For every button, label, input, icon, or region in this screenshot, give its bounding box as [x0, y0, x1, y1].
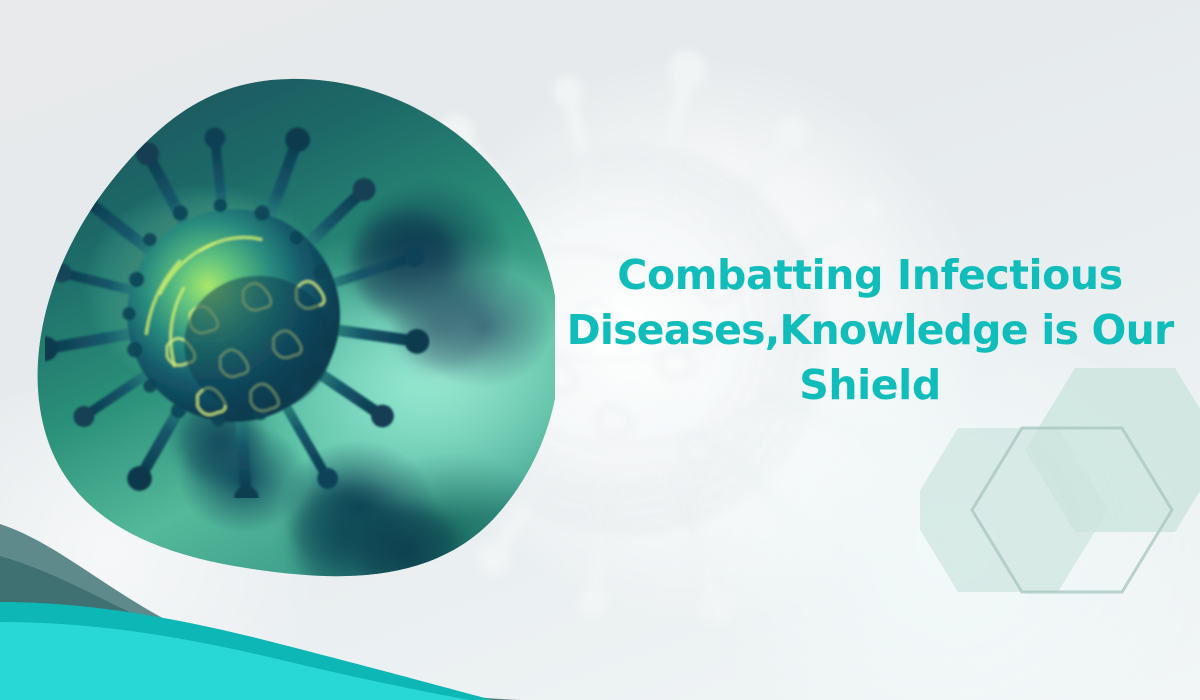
hero-image-blob	[35, 78, 555, 578]
headline-line-2: Diseases,Knowledge is Our	[560, 303, 1180, 358]
headline-line-1: Combatting Infectious	[560, 248, 1180, 303]
infectious-disease-banner: Combatting Infectious Diseases,Knowledge…	[0, 0, 1200, 700]
page-title: Combatting Infectious Diseases,Knowledge…	[560, 248, 1180, 413]
virus-particle-illustration	[45, 118, 430, 498]
headline-line-3: Shield	[560, 358, 1180, 413]
virus-microscopy-photo	[35, 78, 555, 578]
bottom-wave-decoration	[0, 510, 1200, 700]
